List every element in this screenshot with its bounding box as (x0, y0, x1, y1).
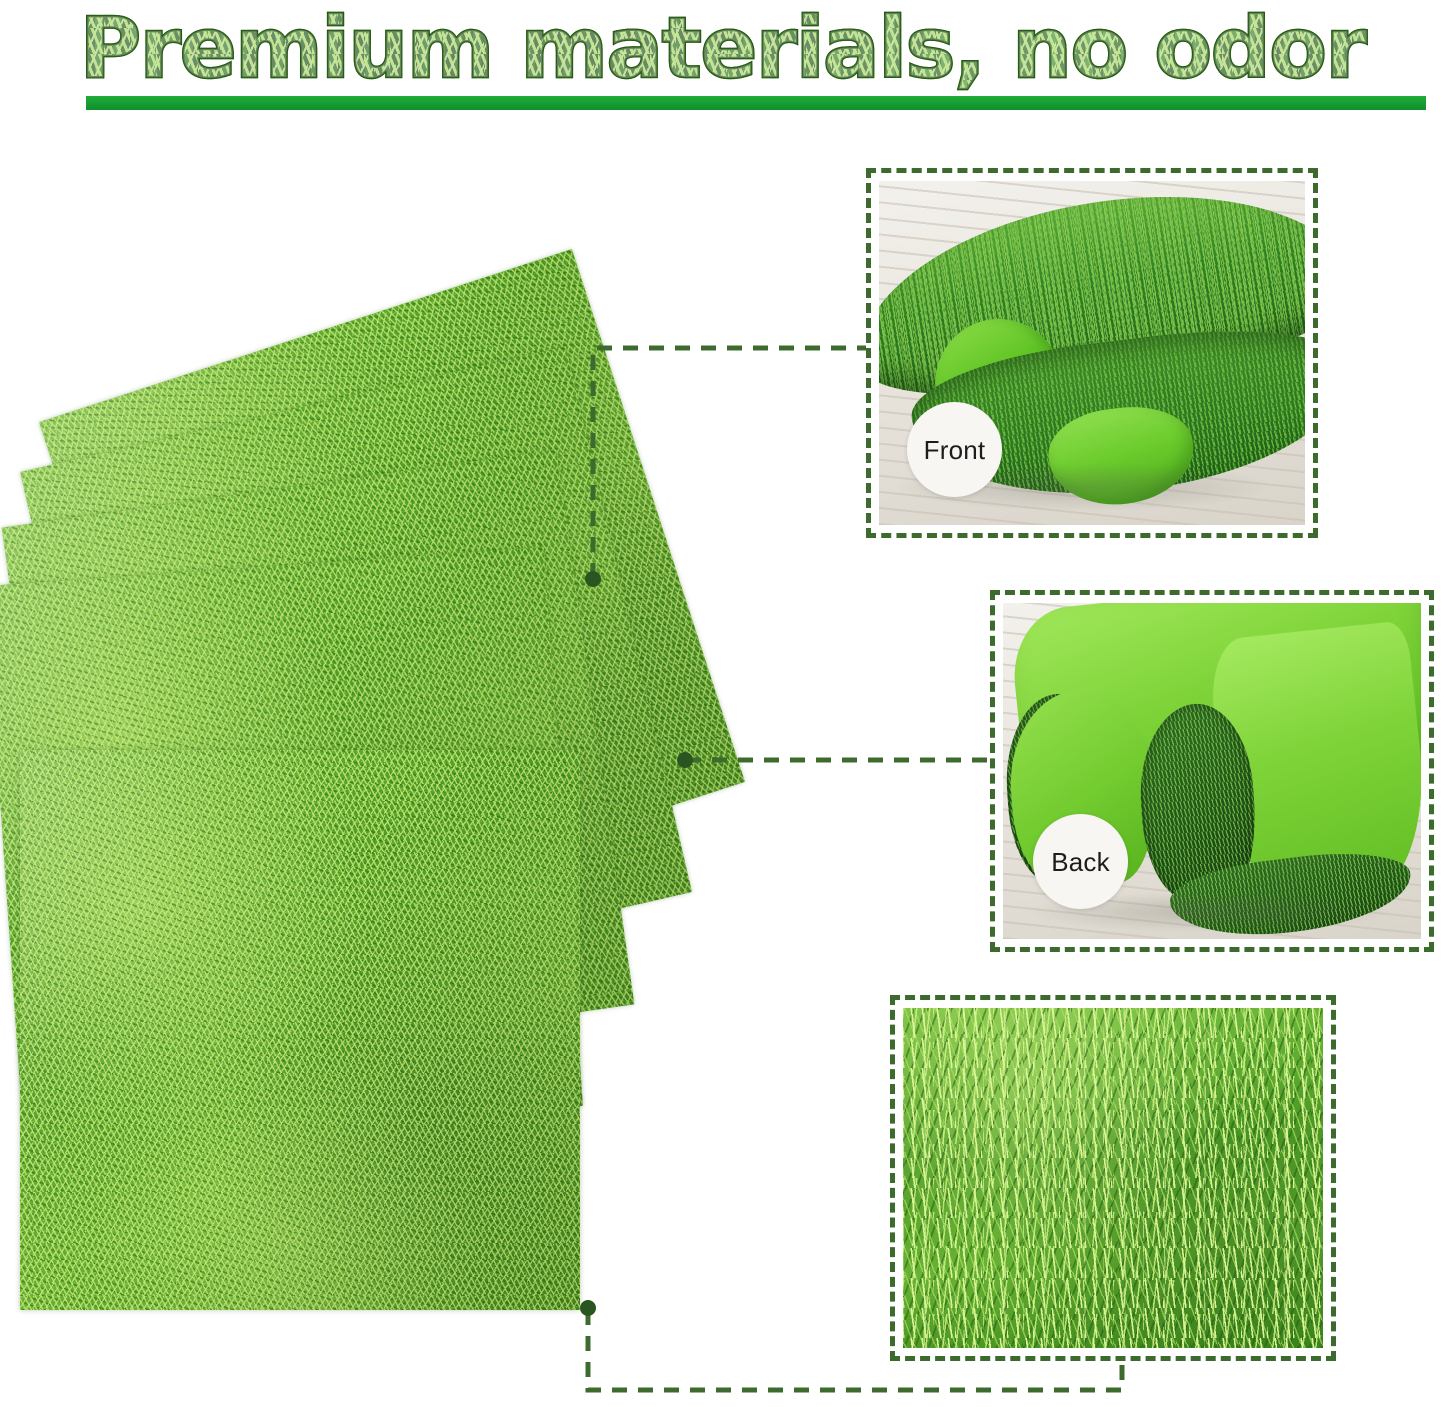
status-badge-front: Front (907, 402, 1002, 497)
title-block: Premium materials, no odor (0, 0, 1445, 118)
status-badge-back: Back (1033, 814, 1128, 909)
title-underline-bar (86, 96, 1426, 110)
photo-back-grass-roll: Back (1003, 603, 1421, 939)
grass-blade-texture (903, 1008, 1323, 1348)
photo-grass-closeup (903, 1008, 1323, 1348)
page-title: Premium materials, no odor (0, 2, 1445, 94)
callout-panel-grass-closeup[interactable] (890, 995, 1336, 1361)
infographic-canvas: Premium materials, no odor Front (0, 0, 1445, 1407)
callout-panel-front[interactable]: Front (866, 168, 1318, 538)
product-image-grass-mat-stack (0, 210, 780, 1330)
callout-panel-back[interactable]: Back (990, 590, 1434, 952)
grass-mat-sheet (20, 750, 580, 1310)
photo-front-grass-roll: Front (879, 181, 1305, 525)
